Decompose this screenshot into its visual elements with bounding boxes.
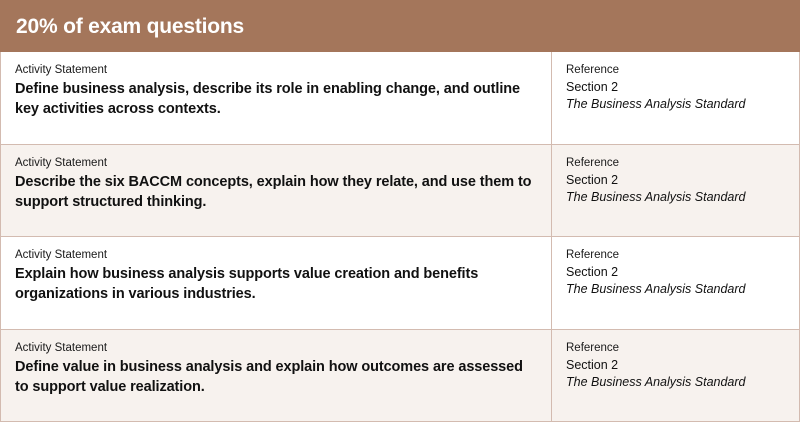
activity-statement-label: Activity Statement — [15, 156, 537, 170]
reference-source: The Business Analysis Standard — [566, 374, 785, 391]
exam-domain-card: 20% of exam questions Activity Statement… — [0, 0, 800, 422]
activity-cell: Activity Statement Explain how business … — [1, 237, 552, 329]
table-row: Activity Statement Define value in busin… — [1, 330, 799, 422]
table-row: Activity Statement Describe the six BACC… — [1, 145, 799, 238]
reference-label: Reference — [566, 63, 785, 77]
reference-source: The Business Analysis Standard — [566, 189, 785, 206]
activity-statement-text: Define value in business analysis and ex… — [15, 357, 537, 397]
reference-cell: Reference Section 2 The Business Analysi… — [552, 237, 799, 329]
activity-statement-text: Describe the six BACCM concepts, explain… — [15, 172, 537, 212]
reference-source: The Business Analysis Standard — [566, 281, 785, 298]
table-row: Activity Statement Explain how business … — [1, 237, 799, 330]
activity-cell: Activity Statement Define business analy… — [1, 52, 552, 144]
activity-statement-label: Activity Statement — [15, 341, 537, 355]
activity-statement-label: Activity Statement — [15, 63, 537, 77]
reference-cell: Reference Section 2 The Business Analysi… — [552, 330, 799, 422]
reference-label: Reference — [566, 156, 785, 170]
activity-statement-text: Explain how business analysis supports v… — [15, 264, 537, 304]
reference-section: Section 2 — [566, 79, 785, 96]
reference-cell: Reference Section 2 The Business Analysi… — [552, 145, 799, 237]
reference-section: Section 2 — [566, 264, 785, 281]
activity-statement-label: Activity Statement — [15, 248, 537, 262]
table-row: Activity Statement Define business analy… — [1, 52, 799, 145]
page-title: 20% of exam questions — [16, 16, 244, 37]
reference-cell: Reference Section 2 The Business Analysi… — [552, 52, 799, 144]
activity-cell: Activity Statement Define value in busin… — [1, 330, 552, 422]
reference-label: Reference — [566, 248, 785, 262]
reference-label: Reference — [566, 341, 785, 355]
activity-cell: Activity Statement Describe the six BACC… — [1, 145, 552, 237]
activity-table: Activity Statement Define business analy… — [0, 52, 800, 422]
reference-section: Section 2 — [566, 357, 785, 374]
reference-source: The Business Analysis Standard — [566, 96, 785, 113]
reference-section: Section 2 — [566, 172, 785, 189]
card-header: 20% of exam questions — [0, 0, 800, 52]
activity-statement-text: Define business analysis, describe its r… — [15, 79, 537, 119]
